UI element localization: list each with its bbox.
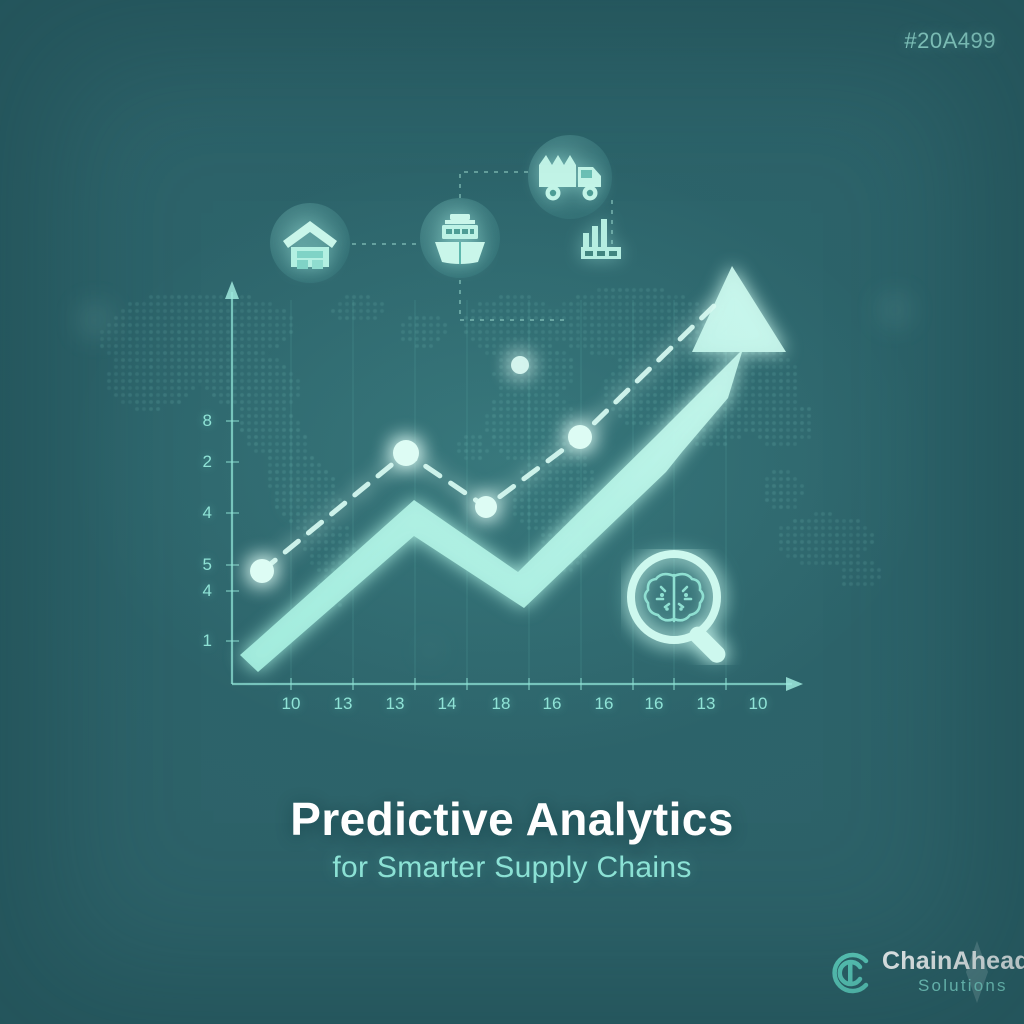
x-tick-label: 16: [634, 694, 674, 714]
data-point-markers: [250, 356, 592, 583]
x-tick-label: 13: [375, 694, 415, 714]
factory-icon: [578, 216, 624, 262]
x-tick-label: 14: [427, 694, 467, 714]
y-tick-label: 4: [186, 503, 212, 523]
x-tick-label: 18: [481, 694, 521, 714]
brain-magnifier-icon[interactable]: [620, 548, 744, 666]
warehouse-icon: [279, 214, 341, 272]
y-axis-arrowhead: [225, 281, 239, 299]
x-tick-label: 10: [738, 694, 778, 714]
x-tick-label: 16: [532, 694, 572, 714]
x-tick-label: 13: [686, 694, 726, 714]
y-tick-label: 5: [186, 555, 212, 575]
page-subtitle: for Smarter Supply Chains: [0, 851, 1024, 885]
y-tick-label: 1: [186, 631, 212, 651]
map-glow-points: [86, 302, 903, 656]
x-tick-label: 10: [271, 694, 311, 714]
forecast-trend-dashed: [262, 300, 720, 571]
cargo-ship-icon: [429, 210, 491, 268]
y-tick-label: 8: [186, 411, 212, 431]
y-tick-label: 2: [186, 452, 212, 472]
delivery-truck-icon: [536, 150, 606, 206]
brand-logo[interactable]: ChainAhead Solutions: [826, 943, 1006, 1005]
y-tick-label: 4: [186, 581, 212, 601]
hash-code-label: #20A499: [904, 28, 996, 54]
circular-c-monogram-icon: [826, 949, 874, 997]
brand-tagline: Solutions: [918, 976, 1008, 996]
x-tick-label: 13: [323, 694, 363, 714]
page-title: Predictive Analytics: [0, 792, 1024, 846]
poster-canvas: #20A499 8 2 4 5 4 1 10 13 13 14 18 16 16…: [0, 0, 1024, 1024]
x-axis-arrowhead: [786, 677, 803, 691]
x-tick-label: 16: [584, 694, 624, 714]
brand-name: ChainAhead: [882, 947, 1024, 976]
